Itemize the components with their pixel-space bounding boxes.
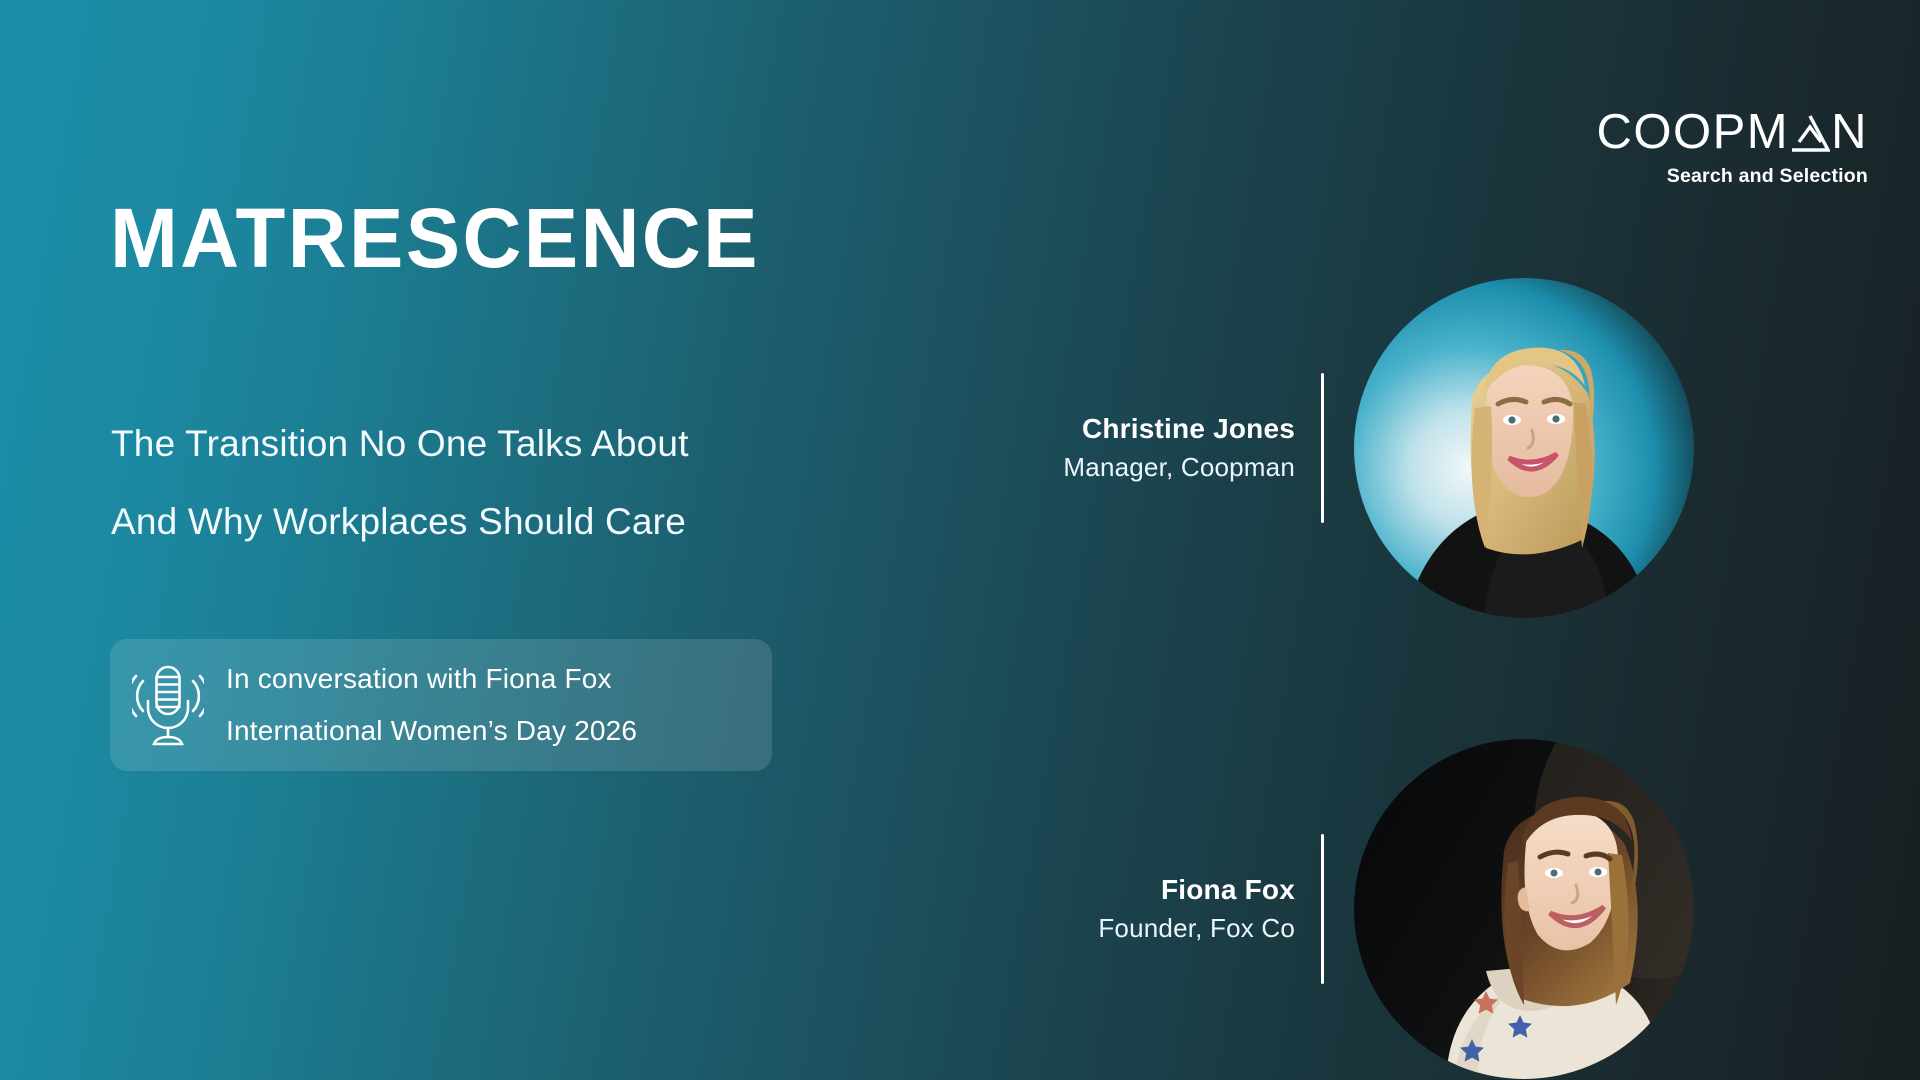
avatar [1354, 278, 1694, 618]
page-title: MATRESCENCE [110, 196, 760, 280]
logo-mountain-a-icon [1790, 113, 1830, 153]
subtitle: The Transition No One Talks About And Wh… [111, 405, 689, 561]
badge-line-2: International Women’s Day 2026 [226, 705, 637, 757]
logo-wordmark: COOPM N [1596, 108, 1868, 157]
logo-wordmark-part2: N [1831, 108, 1868, 157]
speaker-divider [1321, 834, 1324, 984]
speaker-meta: Christine Jones Manager, Coopman [1063, 411, 1321, 485]
speaker-card-fiona-fox: Fiona Fox Founder, Fox Co [1098, 739, 1694, 1079]
speaker-card-christine-jones: Christine Jones Manager, Coopman [1063, 278, 1694, 618]
speaker-name: Christine Jones [1063, 411, 1295, 446]
avatar [1354, 739, 1694, 1079]
microphone-icon [132, 661, 204, 749]
speaker-divider [1321, 373, 1324, 523]
speaker-meta: Fiona Fox Founder, Fox Co [1098, 872, 1321, 946]
logo-wordmark-part1: COOPM [1596, 108, 1789, 157]
badge-line-1: In conversation with Fiona Fox [226, 653, 637, 705]
speaker-role: Manager, Coopman [1063, 450, 1295, 485]
logo-tagline: Search and Selection [1596, 167, 1868, 187]
conversation-badge: In conversation with Fiona Fox Internati… [110, 639, 772, 771]
subtitle-line-1: The Transition No One Talks About [111, 405, 689, 483]
speaker-role: Founder, Fox Co [1098, 911, 1295, 946]
coopman-logo: COOPM N Search and Selection [1596, 108, 1868, 187]
speaker-name: Fiona Fox [1098, 872, 1295, 907]
presentation-slide: COOPM N Search and Selection MATRESCENCE… [0, 0, 1920, 1080]
conversation-badge-text: In conversation with Fiona Fox Internati… [226, 653, 637, 757]
subtitle-line-2: And Why Workplaces Should Care [111, 483, 689, 561]
